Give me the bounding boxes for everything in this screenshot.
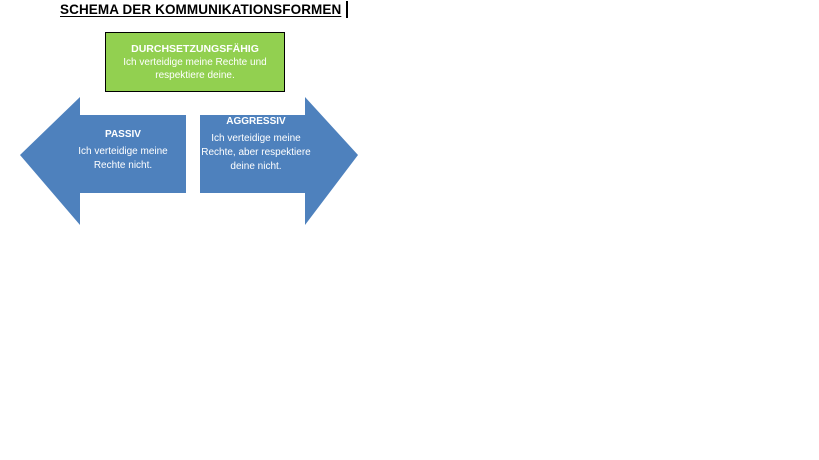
durchsetzungsfaehig-title: DURCHSETZUNGSFÄHIG (131, 42, 259, 56)
passiv-arrow-shape[interactable] (20, 97, 186, 225)
diagram-canvas: DURCHSETZUNGSFÄHIG Ich verteidige meine … (0, 0, 400, 250)
document-canvas: SCHEMA DER KOMMUNIKATIONSFORMEN DURCHSET… (0, 0, 819, 460)
durchsetzungsfaehig-shape[interactable]: DURCHSETZUNGSFÄHIG Ich verteidige meine … (105, 32, 285, 92)
durchsetzungsfaehig-body: Ich verteidige meine Rechte und respekti… (112, 56, 278, 82)
aggressiv-arrow-shape[interactable] (200, 97, 358, 225)
